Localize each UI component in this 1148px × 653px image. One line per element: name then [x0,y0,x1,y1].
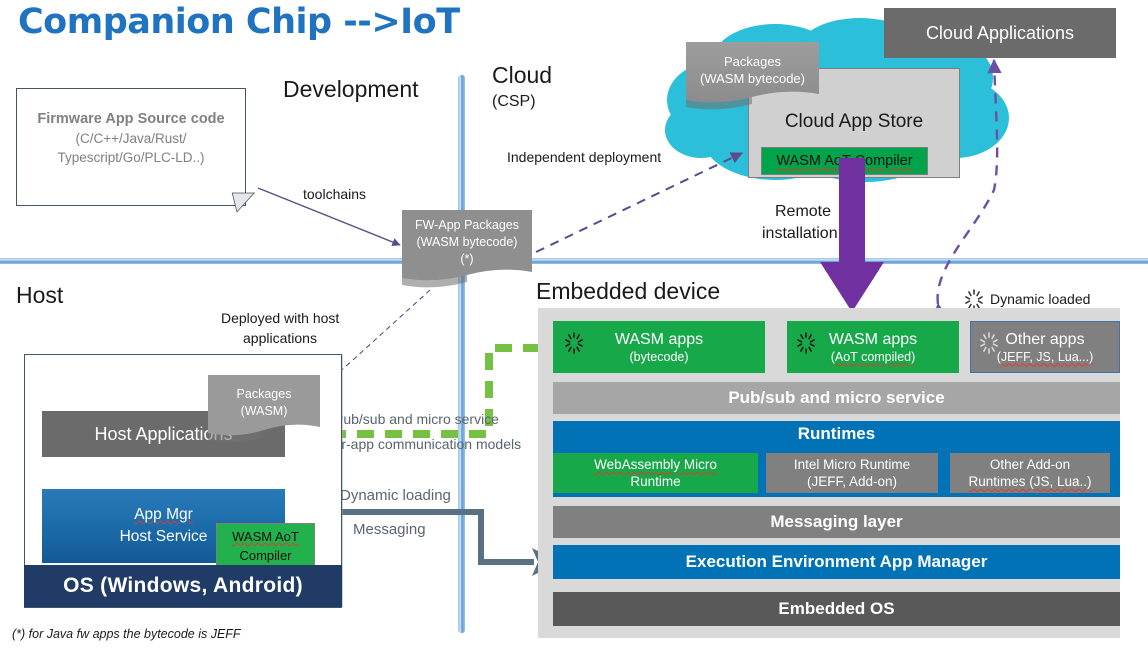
os-bar: OS (Windows, Android) [24,565,342,607]
runtime-other-box[interactable]: Other Add-on Runtimes (JS, Lua..) [950,453,1110,493]
label-deployed-with-host-line2: applications [243,330,317,346]
other-apps-title: Other apps [1005,330,1084,349]
host-packages-callout: Packages (WASM) [208,377,320,429]
label-dynamic-loading: Dynamic loading [340,487,451,504]
label-deployed-with-host-line1: Deployed with host [221,310,339,326]
runtimes-title: Runtimes [553,424,1120,444]
app-mgr-line2: Host Service [120,526,208,548]
runtime-other-line1: Other Add-on [990,456,1070,473]
host-aot-line2: Compiler [239,546,291,565]
wasm-apps-aot-spinner-icon [794,331,818,355]
label-pubsub-micro-service: Pub/sub and micro service [334,411,499,427]
label-remote-installation-line1: Remote [775,203,831,221]
runtime-intel-line1: Intel Micro Runtime [794,456,910,473]
messaging-layer-bar[interactable]: Messaging layer [553,506,1120,538]
cloud-to-device-dashed-arrow [938,60,998,304]
other-apps-sub: (JEFF, JS, Lua...) [997,349,1094,365]
footnote: (*) for Java fw apps the bytecode is JEF… [12,627,241,641]
embedded-os-bar: Embedded OS [553,592,1120,626]
host-packages-line2: (WASM) [241,403,288,420]
runtime-wamr-line2: Runtime [630,473,680,490]
label-inter-app-communication: Inter-app communication models [318,436,521,452]
runtime-wamr-box[interactable]: WebAssembly Micro Runtime [553,453,758,493]
runtime-intel-line2: (JEFF, Add-on) [807,473,897,490]
label-messaging: Messaging [353,521,426,538]
host-packages-line1: Packages [237,386,292,403]
diagram-canvas: Companion Chip -->IoT Development Cloud … [0,0,1148,653]
wasm-apps-bytecode-spinner-icon [562,331,586,355]
label-dynamic-loaded: Dynamic loaded [990,291,1090,307]
messaging-layer-label: Messaging layer [770,512,902,532]
embedded-os-label: Embedded OS [778,599,894,619]
execution-env-app-manager-label: Execution Environment App Manager [686,552,988,572]
pubsub-bar-label: Pub/sub and micro service [728,388,944,408]
label-remote-installation-line2: installation [762,225,838,243]
wasm-apps-aot-title: WASM apps [829,330,917,349]
host-aot-line1: WASM AoT [232,527,299,546]
os-bar-label: OS (Windows, Android) [63,574,303,598]
runtime-intel-box[interactable]: Intel Micro Runtime (JEFF, Add-on) [766,453,938,493]
wasm-apps-aot-sub: (AoT compiled) [831,349,916,365]
wasm-apps-bytecode-sub: (bytecode) [629,349,688,365]
other-apps-spinner-icon [977,331,1001,355]
pubsub-bar[interactable]: Pub/sub and micro service [553,382,1120,414]
label-toolchains: toolchains [303,186,366,202]
execution-env-app-manager-bar[interactable]: Execution Environment App Manager [553,545,1120,579]
app-mgr-line1: App Mgr [134,504,193,526]
host-aot-compiler-box[interactable]: WASM AoT Compiler [216,523,315,569]
runtime-other-line2: Runtimes (JS, Lua..) [968,473,1091,490]
independent-deployment-arrow [536,153,742,252]
runtime-wamr-line1: WebAssembly Micro [594,456,717,473]
label-independent-deployment: Independent deployment [507,149,661,165]
wasm-apps-bytecode-title: WASM apps [615,330,703,349]
